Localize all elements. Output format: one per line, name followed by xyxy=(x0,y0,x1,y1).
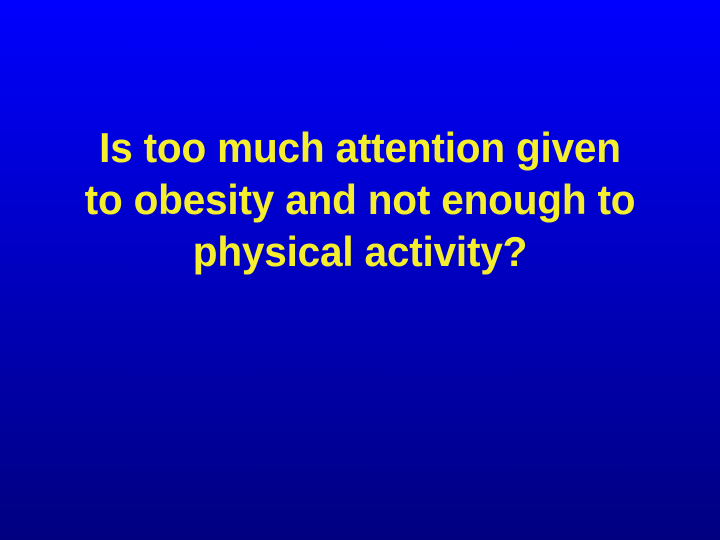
slide-title-line-1: Is too much attention given xyxy=(22,122,698,174)
slide-title: Is too much attention given to obesity a… xyxy=(0,122,720,278)
slide-title-line-2: to obesity and not enough to xyxy=(22,174,698,226)
presentation-slide: Is too much attention given to obesity a… xyxy=(0,0,720,540)
slide-title-line-3: physical activity? xyxy=(22,226,698,278)
